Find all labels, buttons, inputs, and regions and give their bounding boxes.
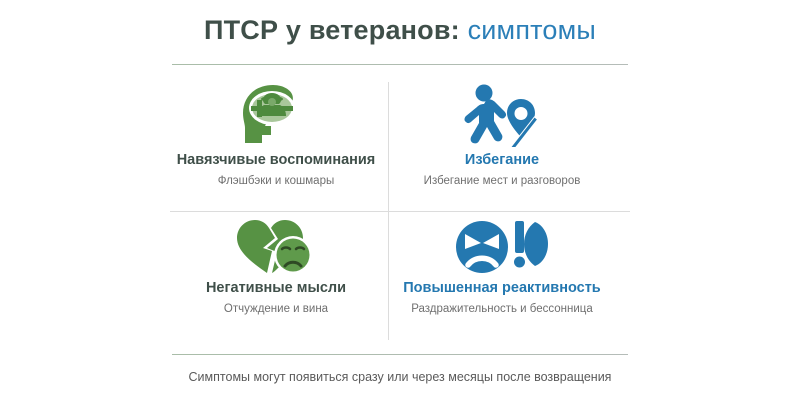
symptom-card-avoidance: Избегание Избегание мест и разговоров bbox=[394, 78, 610, 208]
symptom-title: Навязчивые воспоминания bbox=[177, 152, 376, 169]
title-accent: симптомы bbox=[460, 15, 596, 45]
title-main: ПТСР у ветеранов: bbox=[204, 15, 460, 45]
symptom-title: Избегание bbox=[465, 152, 539, 169]
symptom-card-negative-thoughts: Негативные мысли Отчуждение и вина bbox=[168, 214, 384, 344]
symptom-subtitle: Отчуждение и вина bbox=[224, 303, 328, 317]
angry-face-exclamation-moon-icon bbox=[455, 214, 549, 280]
symptom-subtitle: Раздражительность и бессонница bbox=[411, 303, 593, 317]
divider-top bbox=[172, 64, 628, 65]
symptom-title: Повышенная реактивность bbox=[403, 280, 600, 297]
page-title: ПТСР у ветеранов: симптомы bbox=[0, 16, 800, 46]
symptom-title: Негативные мысли bbox=[206, 280, 346, 297]
broken-heart-sad-face-icon bbox=[233, 214, 319, 280]
symptom-subtitle: Флэшбэки и кошмары bbox=[218, 175, 335, 189]
divider-bottom bbox=[172, 354, 628, 355]
symptom-subtitle: Избегание мест и разговоров bbox=[424, 175, 581, 189]
head-soldier-icon bbox=[237, 78, 315, 152]
divider-horizontal bbox=[170, 211, 630, 212]
ptsd-symptoms-infographic: ПТСР у ветеранов: симптомы bbox=[0, 0, 800, 400]
symptom-card-hyperarousal: Повышенная реактивность Раздражительност… bbox=[394, 214, 610, 344]
symptoms-grid: Навязчивые воспоминания Флэшбэки и кошма… bbox=[168, 78, 632, 344]
footer-note: Симптомы могут появиться сразу или через… bbox=[0, 370, 800, 384]
walking-person-no-location-icon bbox=[460, 78, 544, 152]
symptom-card-intrusive-memories: Навязчивые воспоминания Флэшбэки и кошма… bbox=[168, 78, 384, 208]
title-text: ПТСР у ветеранов: симптомы bbox=[0, 16, 800, 46]
